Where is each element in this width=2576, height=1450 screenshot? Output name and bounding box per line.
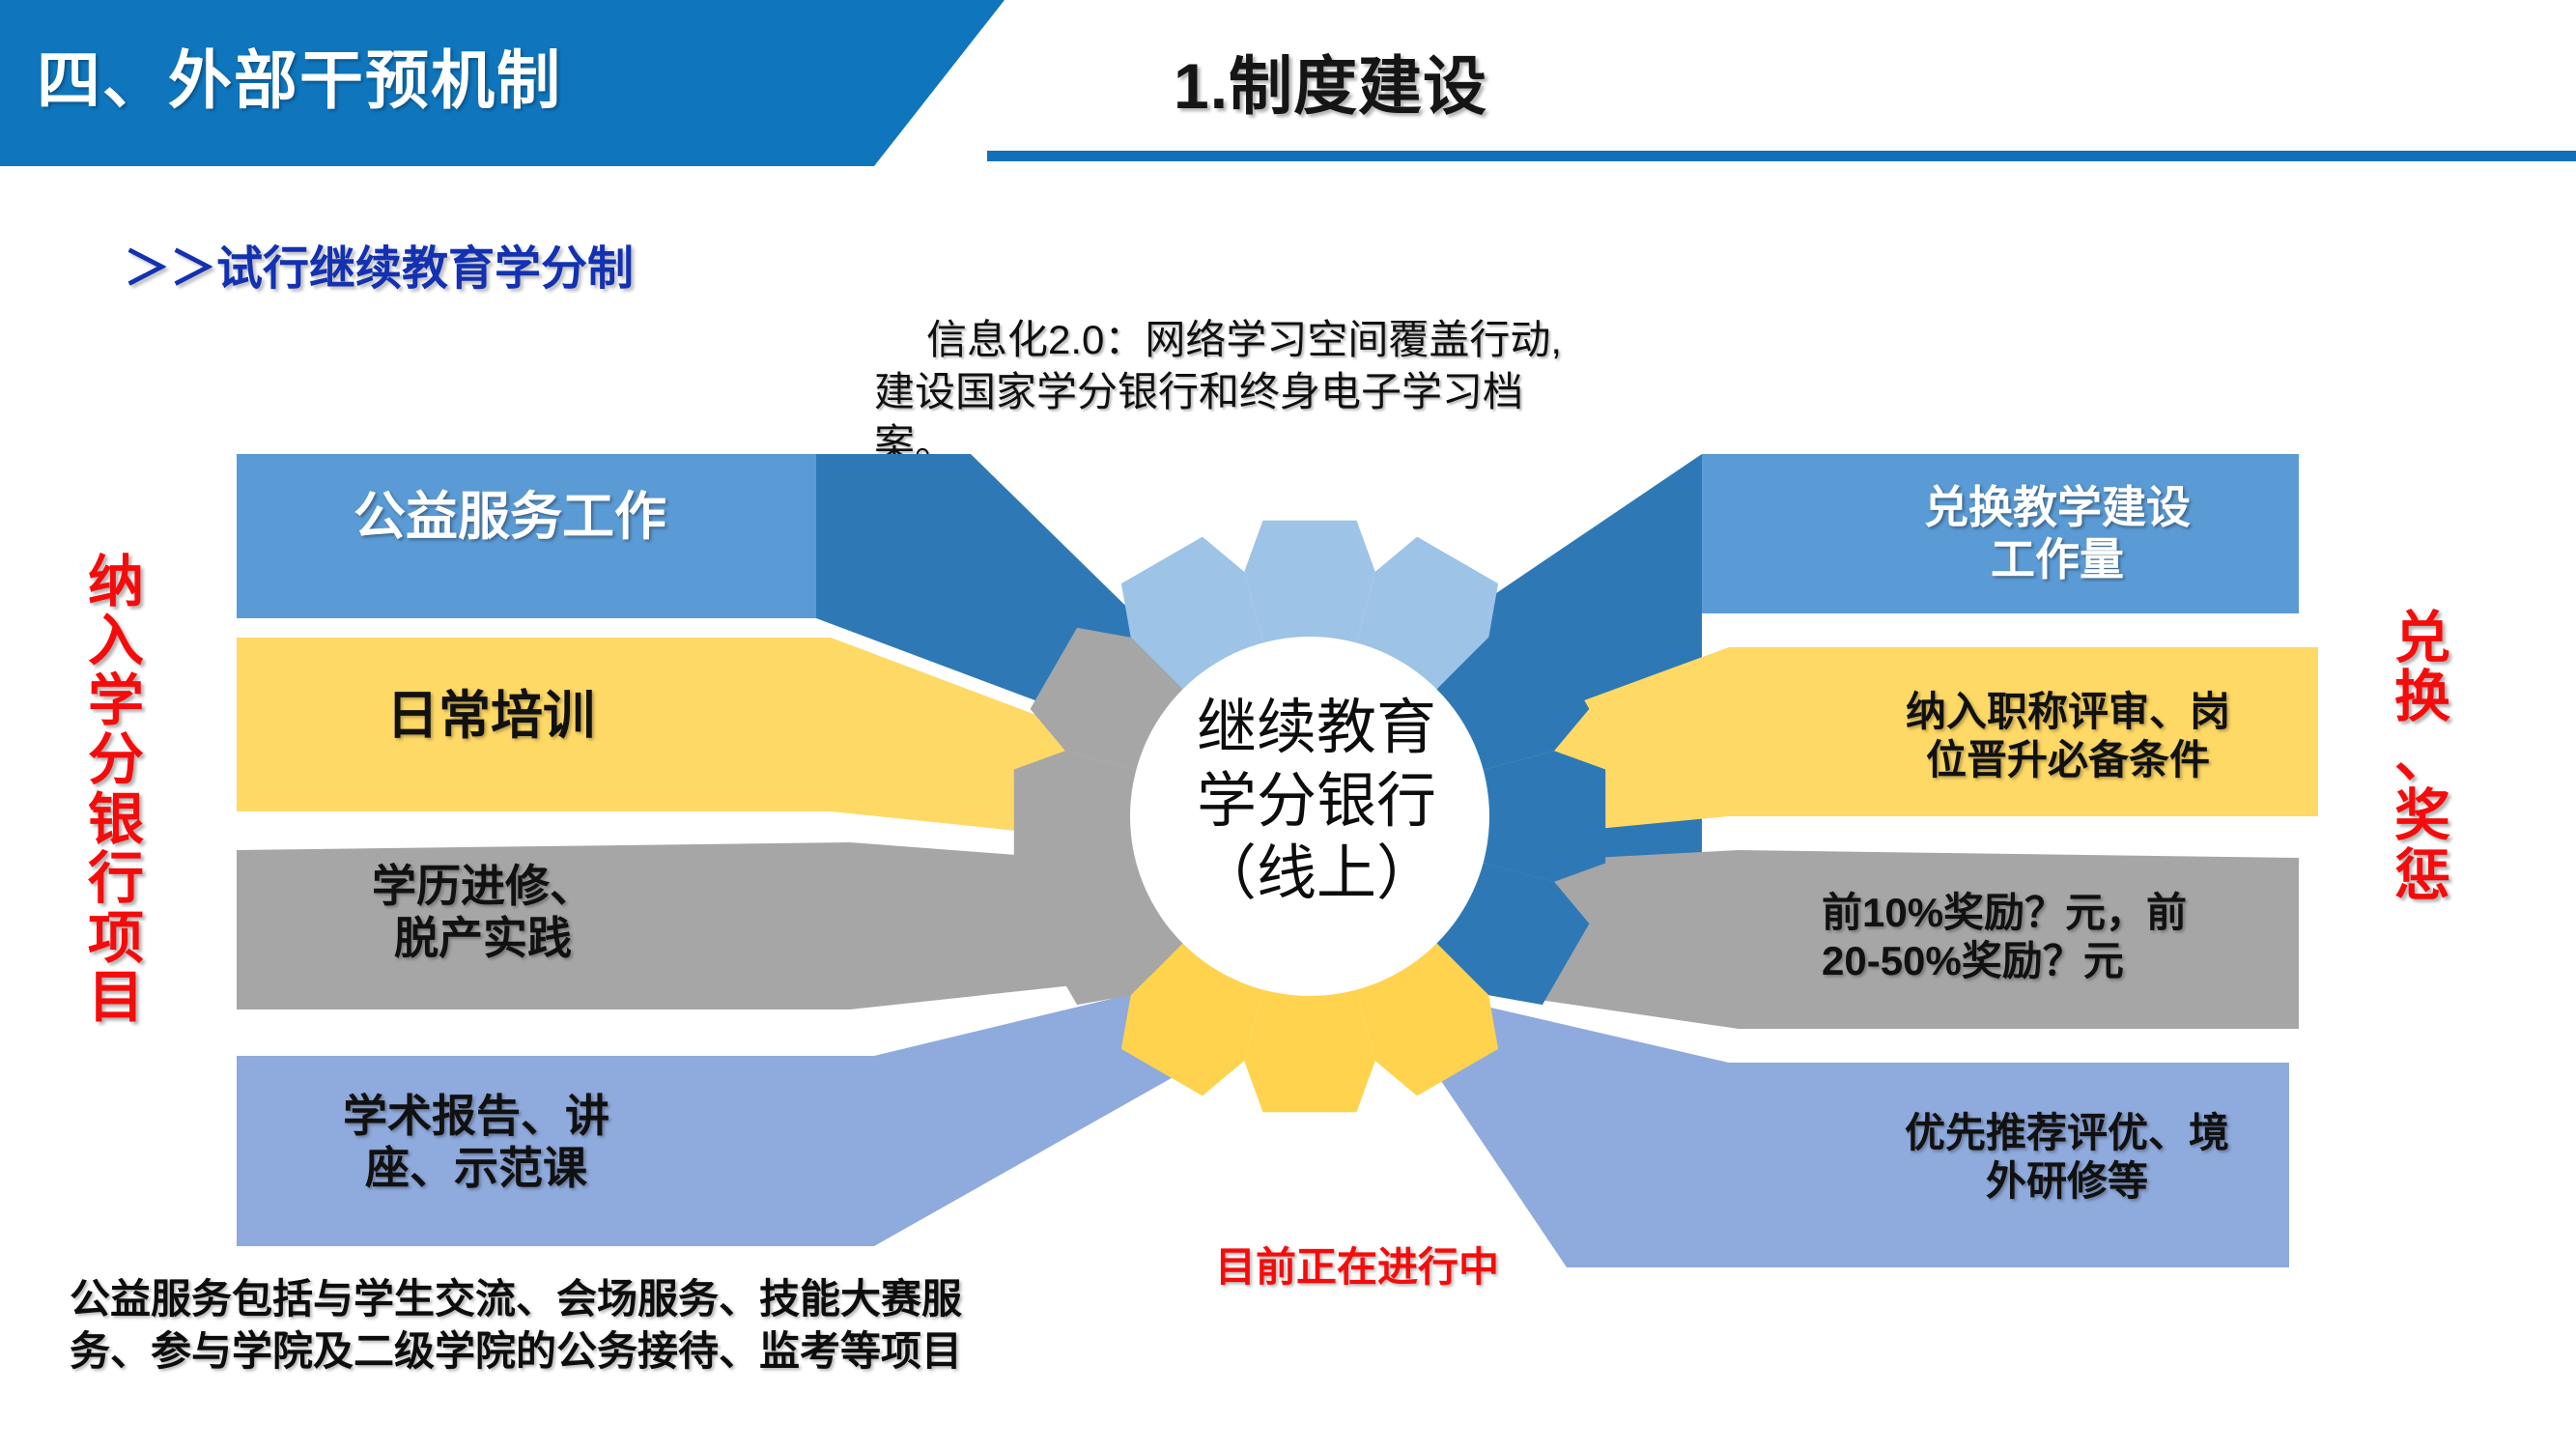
right-item-3-label: 优先推荐评优、境 外研修等 bbox=[1816, 1109, 2318, 1205]
footnote: 公益服务包括与学生交流、会场服务、技能大赛服 务、参与学院及二级学院的公务接待、… bbox=[70, 1273, 1132, 1378]
footnote-line-2: 务、参与学院及二级学院的公务接待、监考等项目 bbox=[70, 1325, 1132, 1378]
gear-tooth bbox=[1014, 751, 1144, 882]
left-item-3-label: 学术报告、讲 座、示范课 bbox=[249, 1090, 703, 1195]
slide-canvas: 四、外部干预机制 1.制度建设 ＞＞试行继续教育学分制 信息化2.0：网络学习空… bbox=[0, 0, 2576, 1450]
left-item-2-label: 学历进修、 脱产实践 bbox=[251, 860, 715, 965]
gear-tooth bbox=[1244, 521, 1375, 650]
status-badge: 目前正在进行中 bbox=[1215, 1235, 1499, 1294]
left-item-1-label: 日常培训 bbox=[240, 686, 742, 748]
left-item-0-label: 公益服务工作 bbox=[240, 487, 780, 549]
gear-center-label: 继续教育 学分银行 （线上） bbox=[1128, 692, 1505, 911]
footnote-line-1: 公益服务包括与学生交流、会场服务、技能大赛服 bbox=[70, 1273, 1132, 1325]
gear-tooth bbox=[1244, 982, 1375, 1112]
right-item-0-label: 兑换教学建设 工作量 bbox=[1806, 481, 2308, 586]
right-item-1-label: 纳入职称评审、岗 位晋升必备条件 bbox=[1822, 688, 2314, 783]
right-item-2-label: 前10%奖励？元，前 20-50%奖励？元 bbox=[1822, 889, 2324, 984]
